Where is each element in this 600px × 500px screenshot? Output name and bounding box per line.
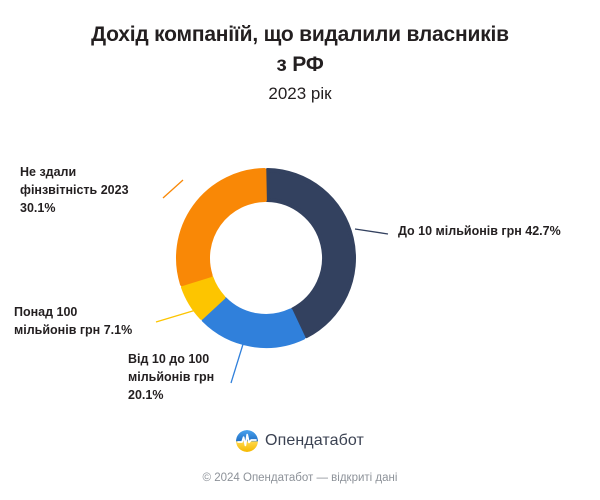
copyright-text: © 2024 Опендатабот — відкриті дані (0, 472, 600, 484)
callout-label-not-reported: Не здали фінзвітність 2023 30.1% (20, 163, 180, 217)
leader-line-do10 (355, 229, 388, 234)
chart-header: Дохід компаніїй, що видалили власників з… (0, 20, 600, 104)
brand-footer: Опендатабот (0, 430, 600, 452)
callout-label-10m-to-100m: Від 10 до 100 мільйонів грн 20.1% (128, 350, 278, 404)
donut-segment[interactable] (178, 170, 265, 284)
chart-title: Дохід компаніїй, що видалили власників з… (90, 20, 510, 80)
callout-label-over-100m: Понад 100 мільйонів грн 7.1% (14, 303, 184, 339)
donut-segments (178, 170, 354, 346)
donut-segment[interactable] (204, 299, 304, 346)
chart-canvas: Дохід компаніїй, що видалили власників з… (0, 0, 600, 500)
opendatabot-pulse-icon-svg (236, 430, 258, 452)
brand-name: Опендатабот (265, 432, 364, 450)
opendatabot-pulse-icon (236, 430, 258, 452)
donut-segment[interactable] (183, 277, 223, 317)
donut-segment[interactable] (267, 170, 354, 336)
callout-label-up-to-10m: До 10 мільйонів грн 42.7% (398, 222, 598, 240)
chart-subtitle: 2023 рік (0, 84, 600, 104)
